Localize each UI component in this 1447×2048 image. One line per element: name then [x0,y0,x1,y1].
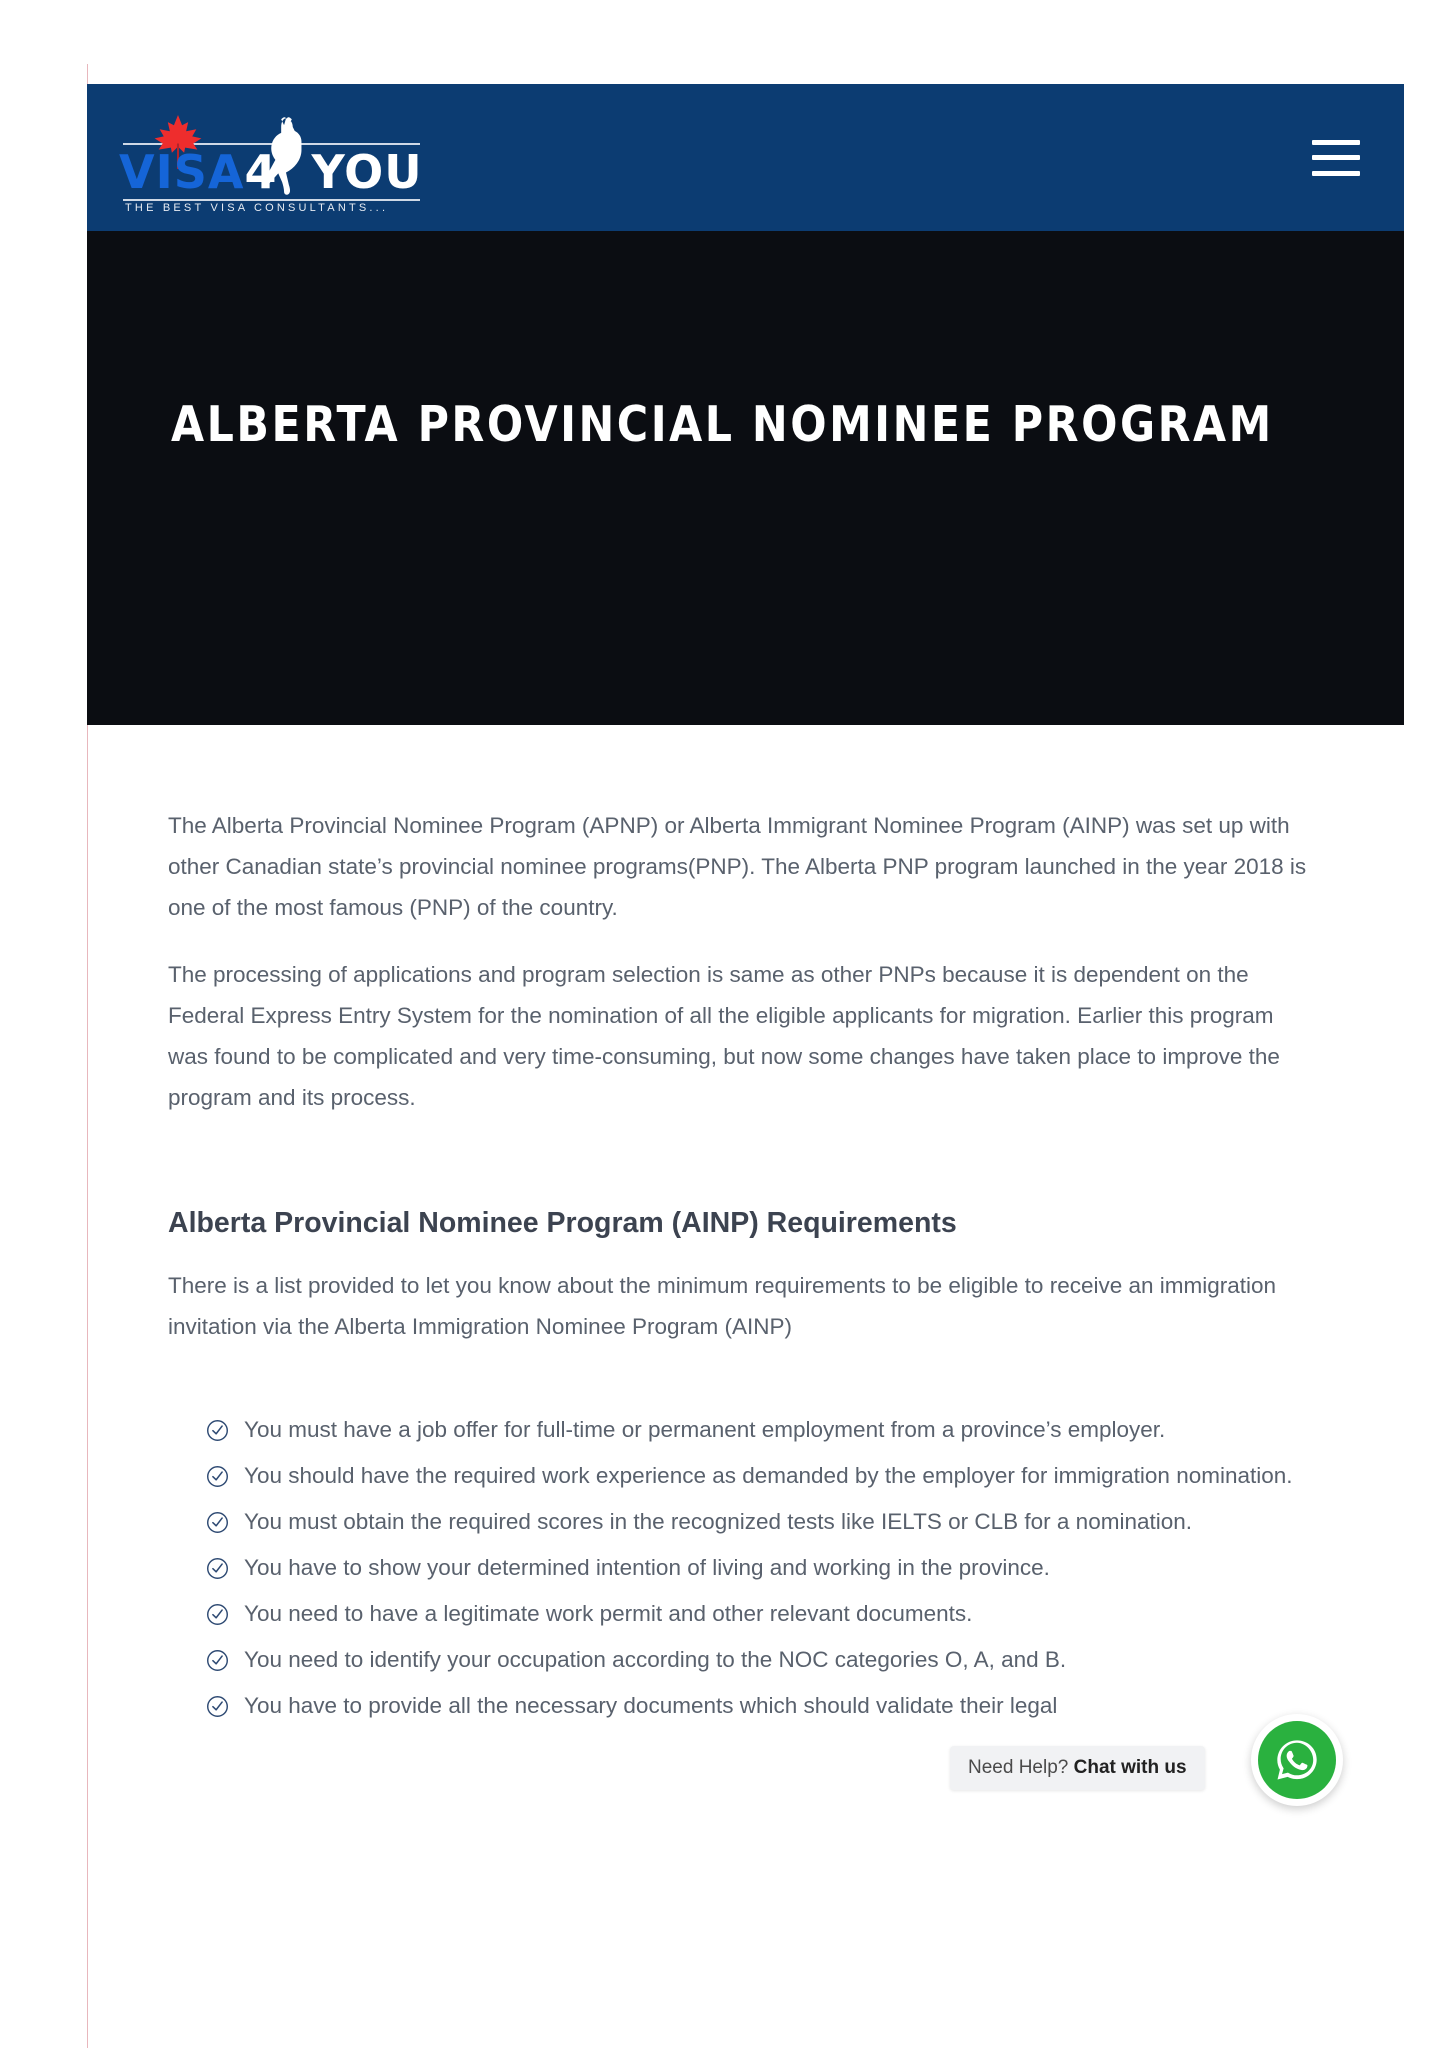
list-item: You have to show your determined intenti… [206,1547,1318,1588]
list-item-text: You need to have a legitimate work permi… [244,1601,972,1626]
logo-text-v: V [119,145,156,199]
list-item: You must obtain the required scores in t… [206,1501,1318,1542]
hamburger-bar-2 [1312,155,1360,160]
whatsapp-chat-widget[interactable]: Need Help? Chat with us [950,1723,1080,1813]
check-circle-icon [206,1557,229,1580]
logo-text-isa: ISA [156,145,245,199]
whatsapp-icon [1270,1733,1324,1787]
hamburger-menu-icon[interactable] [1312,140,1360,176]
whatsapp-chat-button[interactable] [1251,1714,1343,1806]
check-circle-icon [206,1603,229,1626]
logo-text-4: 4 [244,145,277,199]
check-circle-icon [206,1695,229,1718]
list-item-text: You have to show your determined intenti… [244,1555,1050,1580]
check-circle-icon [206,1511,229,1534]
check-circle-icon [206,1649,229,1672]
check-circle-icon [206,1465,229,1488]
hamburger-bar-1 [1312,140,1360,145]
site-logo[interactable]: VISA4 YOU THE BEST VISA CONSULTANTS... [119,98,424,218]
page-title: ALBERTA PROVINCIAL NOMINEE PROGRAM [171,397,1296,453]
list-item-text: You have to provide all the necessary do… [244,1693,1057,1718]
chat-prompt-text: Need Help? [968,1757,1074,1778]
requirements-heading: Alberta Provincial Nominee Program (AINP… [168,1203,1318,1243]
list-item-text: You must have a job offer for full-time … [244,1417,1165,1442]
intro-paragraph-1: The Alberta Provincial Nominee Program (… [168,805,1318,928]
list-item: You should have the required work experi… [206,1455,1318,1496]
site-header: VISA4 YOU THE BEST VISA CONSULTANTS... [87,84,1404,231]
list-item-text: You should have the required work experi… [244,1463,1293,1488]
requirements-list: You must have a job offer for full-time … [168,1409,1318,1726]
check-circle-icon [206,1419,229,1442]
list-item: You have to provide all the necessary do… [206,1685,1318,1726]
logo-tagline: THE BEST VISA CONSULTANTS... [125,202,388,214]
list-item-text: You need to identify your occupation acc… [244,1647,1066,1672]
logo-bottom-rule [123,199,420,201]
article-content: The Alberta Provincial Nominee Program (… [168,805,1318,1731]
list-item: You must have a job offer for full-time … [206,1409,1318,1450]
list-item: You need to identify your occupation acc… [206,1639,1318,1680]
whatsapp-button-circle [1258,1721,1336,1799]
list-item: You need to have a legitimate work permi… [206,1593,1318,1634]
page-root: VISA4 YOU THE BEST VISA CONSULTANTS... A… [0,0,1447,2048]
intro-paragraph-2: The processing of applications and progr… [168,954,1318,1118]
logo-text-you: YOU [312,145,423,199]
hero-banner: ALBERTA PROVINCIAL NOMINEE PROGRAM [87,231,1404,725]
requirements-intro: There is a list provided to let you know… [168,1265,1318,1347]
chat-prompt-bubble[interactable]: Need Help? Chat with us [950,1746,1205,1790]
list-item-text: You must obtain the required scores in t… [244,1509,1192,1534]
chat-prompt-bold: Chat with us [1074,1757,1187,1778]
hamburger-bar-3 [1312,171,1360,176]
logo-wordmark: VISA4 YOU [119,146,424,198]
